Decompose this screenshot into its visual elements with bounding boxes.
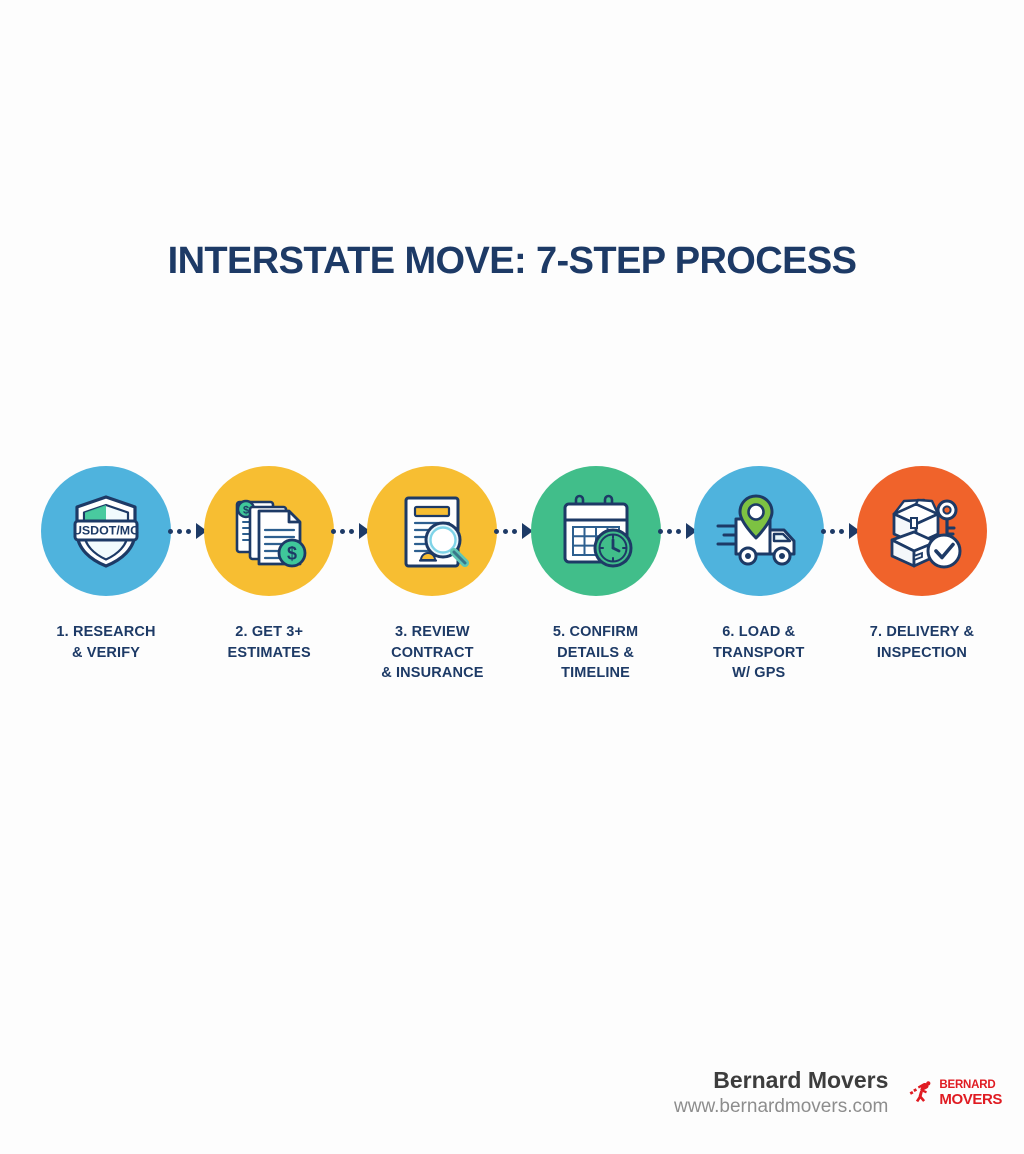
step-circle-7 <box>857 466 987 596</box>
process-steps-row: USDOT/MC 1. RESEARCH & VERIFY <box>38 466 990 684</box>
step-label-2: 2. GET 3+ ESTIMATES <box>228 622 311 663</box>
infographic-canvas: INTERSTATE MOVE: 7-STEP PROCESS USDOT/MC… <box>0 0 1024 1154</box>
svg-text:$: $ <box>243 505 249 517</box>
connector-dot <box>186 529 191 534</box>
svg-text:$: $ <box>287 544 297 564</box>
step-label-1: 1. RESEARCH & VERIFY <box>56 622 155 663</box>
connector-dot <box>839 529 844 534</box>
step-circle-6 <box>694 466 824 596</box>
connector-arrow-3 <box>497 466 531 596</box>
shield-badge-text: USDOT/MC <box>73 524 139 538</box>
process-step-6: 6. LOAD & TRANSPORT W/ GPS <box>691 466 827 684</box>
connector-arrow-4 <box>660 466 694 596</box>
step-label-6: 6. LOAD & TRANSPORT W/ GPS <box>713 622 805 684</box>
connector-dot <box>340 529 345 534</box>
process-step-5: 5. CONFIRM DETAILS & TIMELINE <box>528 466 664 684</box>
step-circle-5 <box>531 466 661 596</box>
connector-dot <box>331 529 336 534</box>
connector-dot <box>177 529 182 534</box>
connector-dot <box>512 529 517 534</box>
logo-wordmark: BERNARD MOVERS <box>939 1080 1002 1108</box>
connector-dot <box>494 529 499 534</box>
connector-dot <box>676 529 681 534</box>
step-circle-2: $ $ <box>204 466 334 596</box>
process-step-2: $ $ 2. GET 3+ ESTIMATES <box>201 466 337 663</box>
truck-gps-icon <box>714 488 804 574</box>
connector-dot <box>667 529 672 534</box>
connector-arrow-5 <box>823 466 857 596</box>
connector-dot <box>349 529 354 534</box>
step-label-7: 7. DELIVERY & INSPECTION <box>870 622 974 663</box>
running-mover-icon <box>908 1080 936 1106</box>
bernard-movers-logo: BERNARD MOVERS <box>908 1080 1002 1108</box>
shield-badge-icon: USDOT/MC <box>63 488 149 574</box>
connector-dot <box>821 529 826 534</box>
footer-branding: Bernard Movers www.bernardmovers.com BER… <box>674 1067 1002 1120</box>
page-title: INTERSTATE MOVE: 7-STEP PROCESS <box>0 240 1024 283</box>
step-label-3: 3. REVIEW CONTRACT & INSURANCE <box>381 622 483 684</box>
calendar-clock-icon <box>553 488 639 574</box>
connector-arrow-1 <box>171 466 205 596</box>
step-circle-1: USDOT/MC <box>41 466 171 596</box>
contract-magnifier-icon <box>389 488 475 574</box>
brand-name: Bernard Movers <box>674 1067 888 1093</box>
process-step-1: USDOT/MC 1. RESEARCH & VERIFY <box>38 466 174 663</box>
documents-dollar-icon: $ $ <box>226 488 312 574</box>
boxes-key-check-icon <box>878 488 966 574</box>
connector-dot <box>658 529 663 534</box>
footer-text-block: Bernard Movers www.bernardmovers.com <box>674 1067 888 1120</box>
process-step-7: 7. DELIVERY & INSPECTION <box>854 466 990 663</box>
connector-dot <box>830 529 835 534</box>
logo-line-movers: MOVERS <box>939 1092 1002 1107</box>
brand-website[interactable]: www.bernardmovers.com <box>674 1095 888 1120</box>
step-label-5: 5. CONFIRM DETAILS & TIMELINE <box>553 622 638 684</box>
logo-line-bernard: BERNARD <box>939 1080 1002 1092</box>
step-circle-3 <box>367 466 497 596</box>
connector-dot <box>168 529 173 534</box>
process-step-3: 3. REVIEW CONTRACT & INSURANCE <box>364 466 500 684</box>
connector-dot <box>503 529 508 534</box>
connector-arrow-2 <box>334 466 368 596</box>
